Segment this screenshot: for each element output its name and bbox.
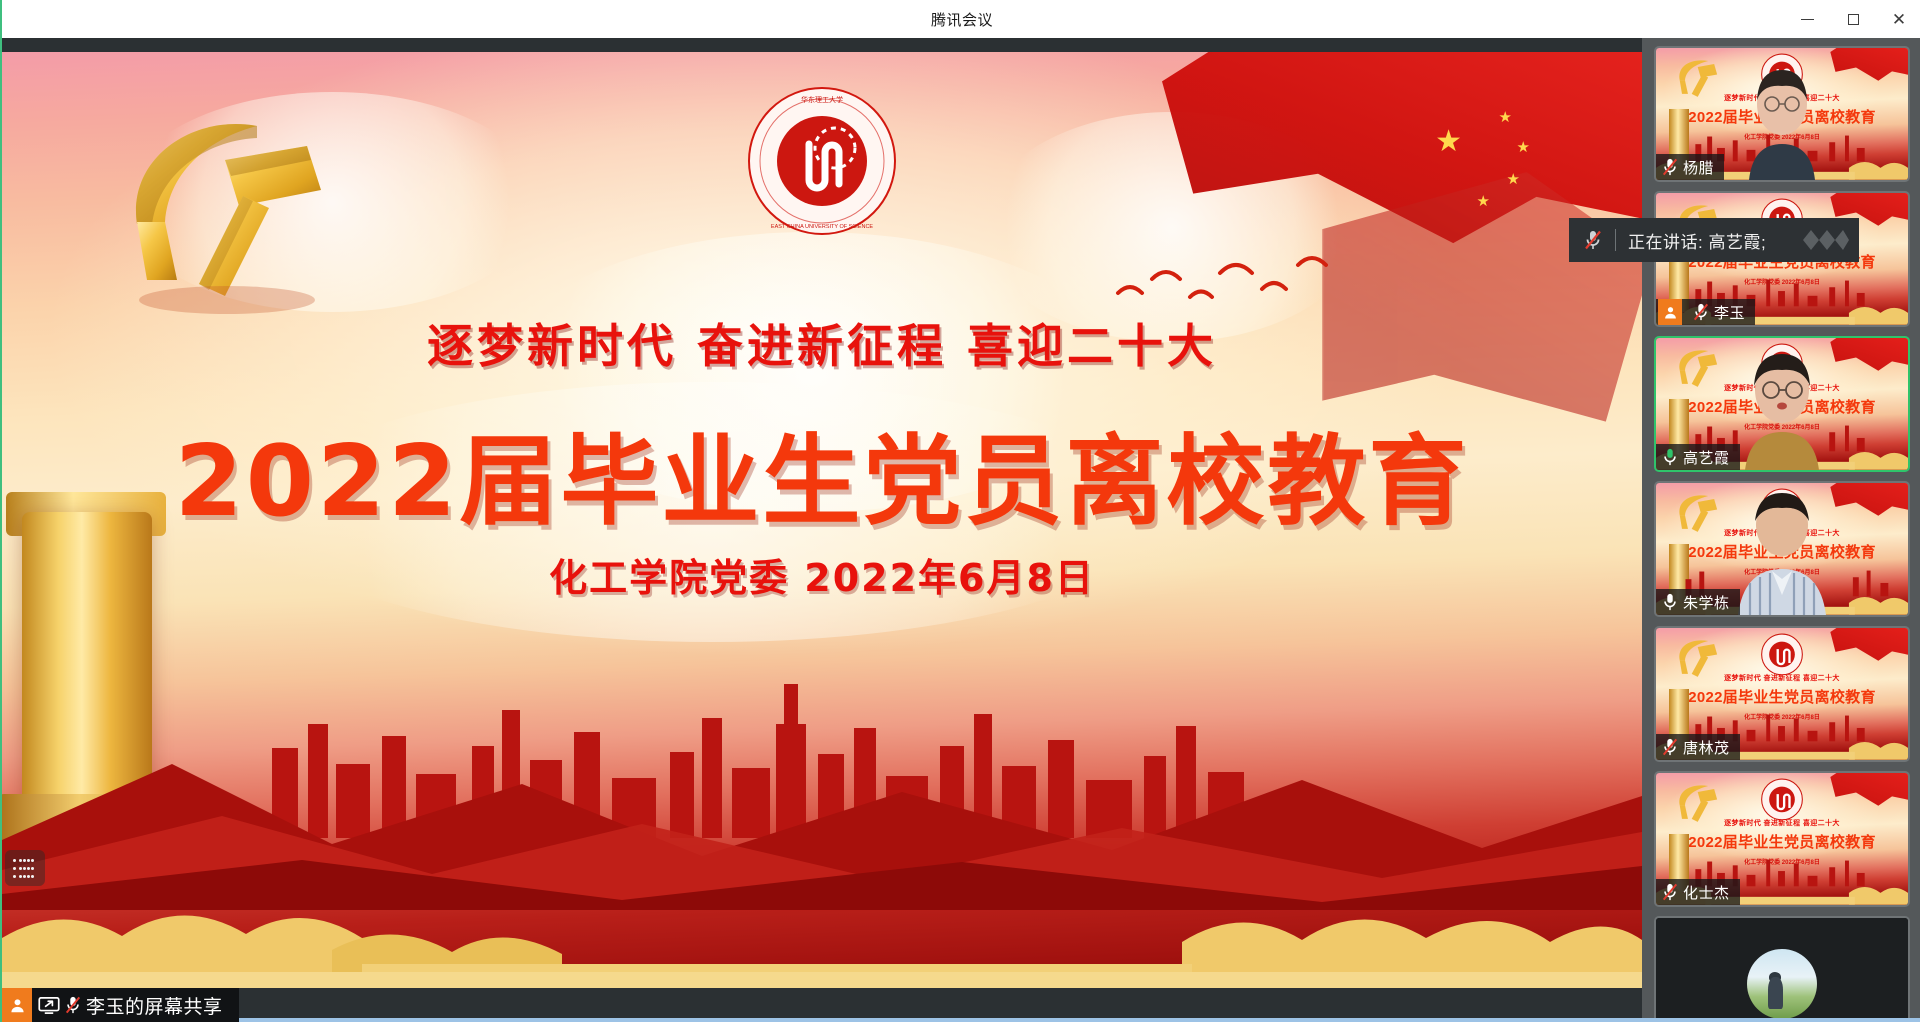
- tile-name-badge: 朱学栋: [1656, 589, 1740, 615]
- participant-tile[interactable]: 南方有佳人: [1654, 916, 1910, 1022]
- participant-name: 朱学栋: [1683, 592, 1730, 613]
- tile-name-badge: 高艺霞: [1656, 444, 1740, 470]
- avatar-body: [1768, 977, 1783, 1009]
- tile-name-badge: 杨腊: [1656, 154, 1724, 180]
- slide-title: 2022届毕业生党员离校教育: [2, 402, 1642, 544]
- mic-muted-icon: [1661, 882, 1679, 902]
- tile-slide-title: 2022届毕业生党员离校教育: [1656, 831, 1908, 852]
- participant-name: 李玉: [1714, 302, 1745, 323]
- tile-name-badge: 化士杰: [1656, 879, 1740, 905]
- participant-name: 高艺霞: [1683, 447, 1730, 468]
- tile-slide-title: 2022届毕业生党员离校教育: [1656, 686, 1908, 707]
- close-icon: ✕: [1892, 11, 1906, 28]
- university-logo-icon: [1761, 632, 1804, 677]
- red-flag-shape: [1322, 172, 1642, 432]
- share-status-label: 李玉的屏幕共享: [86, 992, 223, 1019]
- participant-tile-active-speaker[interactable]: 逐梦新时代 奋进新征程 喜迎二十大 2022届毕业生党员离校教育 化工学院党委 …: [1654, 336, 1910, 472]
- mic-muted-icon: [64, 995, 82, 1015]
- mic-on-icon: [1661, 447, 1679, 467]
- window-controls: ✕: [1784, 0, 1920, 38]
- list-menu-icon[interactable]: [5, 850, 45, 886]
- minimize-icon: [1801, 19, 1814, 20]
- person-icon: [1658, 299, 1682, 325]
- tile-name-badge: 唐林茂: [1656, 734, 1740, 760]
- tile-slide-subtitle: 逐梦新时代 奋进新征程 喜迎二十大: [1656, 818, 1908, 828]
- list-row: [13, 867, 16, 870]
- participant-name: 唐林茂: [1683, 737, 1730, 758]
- slide-subtitle: 逐梦新时代 奋进新征程 喜迎二十大: [2, 310, 1642, 376]
- screen-share-icon: [38, 996, 60, 1015]
- svg-text:华东理工大学: 华东理工大学: [801, 95, 843, 104]
- app-title: 腾讯会议: [931, 9, 993, 30]
- window-bottom-edge: [2, 1018, 1920, 1022]
- participant-name: 化士杰: [1683, 882, 1730, 903]
- meeting-window: 腾讯会议 ✕: [0, 0, 1920, 1022]
- meeting-content: ★ ★ ★ ★ ★: [2, 38, 1920, 1022]
- presentation-slide: ★ ★ ★ ★ ★: [2, 52, 1642, 988]
- share-status-bar: 李玉的屏幕共享: [2, 988, 239, 1022]
- brand-watermark-icon: [1797, 226, 1849, 254]
- avatar-placeholder: [1656, 918, 1908, 1022]
- minimize-button[interactable]: [1784, 0, 1830, 38]
- participant-tile[interactable]: 逐梦新时代 奋进新征程 喜迎二十大 2022届毕业生党员离校教育 化工学院党委 …: [1654, 46, 1910, 182]
- star-icon: ★: [1517, 140, 1530, 155]
- university-logo-icon: [1761, 777, 1804, 822]
- mic-muted-icon: [1583, 229, 1603, 251]
- speaking-text: 正在讲话: 高艺霞;: [1628, 228, 1766, 253]
- maximize-icon: [1848, 14, 1859, 25]
- participant-tile[interactable]: 逐梦新时代 奋进新征程 喜迎二十大 2022届毕业生党员离校教育 化工学院党委 …: [1654, 771, 1910, 907]
- star-icon: ★: [1435, 127, 1462, 157]
- gold-clouds-graphic: [2, 868, 1642, 988]
- participant-tile[interactable]: 逐梦新时代 奋进新征程 喜迎二十大 2022届毕业生党员离校教育 化工学院党委 …: [1654, 481, 1910, 617]
- slide-footer: 化工学院党委 2022年6月8日: [2, 547, 1642, 602]
- participant-sidebar[interactable]: 逐梦新时代 奋进新征程 喜迎二十大 2022届毕业生党员离校教育 化工学院党委 …: [1642, 38, 1920, 1022]
- speaking-notification: 正在讲话: 高艺霞;: [1569, 218, 1859, 262]
- list-row: [13, 875, 16, 878]
- close-button[interactable]: ✕: [1876, 0, 1920, 38]
- participant-video-person: [1732, 483, 1832, 615]
- mic-muted-icon: [1661, 157, 1679, 177]
- share-status-text-group: 李玉的屏幕共享: [32, 988, 239, 1022]
- mic-muted-icon: [1661, 737, 1679, 757]
- birds-icon: [1112, 247, 1342, 317]
- shared-screen-surface[interactable]: ★ ★ ★ ★ ★: [2, 52, 1642, 988]
- mic-on-icon: [1661, 592, 1679, 612]
- star-icon: ★: [1507, 172, 1520, 187]
- list-row: [13, 859, 16, 862]
- star-icon: ★: [1499, 110, 1512, 125]
- mic-muted-icon: [1692, 302, 1710, 322]
- participant-name: 杨腊: [1683, 157, 1714, 178]
- person-icon: [2, 988, 32, 1022]
- shared-screen-stage[interactable]: ★ ★ ★ ★ ★: [2, 38, 1642, 1022]
- party-emblem-icon: [107, 104, 357, 319]
- participant-video-person: [1745, 60, 1819, 180]
- university-logo-icon: 华东理工大学 EAST CHINA UNIVERSITY OF SCIENCE: [747, 86, 897, 236]
- participant-tile[interactable]: 逐梦新时代 奋进新征程 喜迎二十大 2022届毕业生党员离校教育 化工学院党委 …: [1654, 626, 1910, 762]
- participant-video-person: [1739, 342, 1825, 470]
- title-bar: 腾讯会议 ✕: [2, 0, 1920, 38]
- divider: [1615, 229, 1616, 251]
- maximize-button[interactable]: [1830, 0, 1876, 38]
- tile-slide-subtitle: 逐梦新时代 奋进新征程 喜迎二十大: [1656, 673, 1908, 683]
- svg-text:EAST CHINA UNIVERSITY OF SCIEN: EAST CHINA UNIVERSITY OF SCIENCE: [771, 224, 874, 230]
- tile-name-badge: 李玉: [1656, 299, 1755, 325]
- star-icon: ★: [1477, 194, 1490, 209]
- avatar: [1747, 949, 1817, 1019]
